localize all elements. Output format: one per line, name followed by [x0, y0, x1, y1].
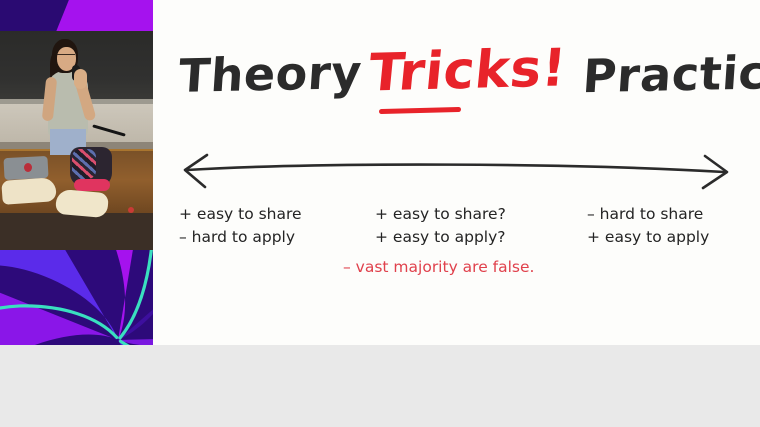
decorative-top-band [0, 0, 153, 31]
slide-screenshot: Theory Tricks! Practice + easy to share … [0, 0, 760, 427]
lecture-photo [0, 31, 153, 250]
column-practice: – hard to share + easy to apply [587, 203, 709, 249]
tricks-underline [379, 107, 461, 114]
practice-line-1: – hard to share [587, 203, 709, 226]
red-object [128, 207, 134, 213]
speaker-camera-feed[interactable] [0, 0, 153, 345]
glasses-icon [57, 54, 75, 59]
backpack-pattern [72, 149, 96, 179]
heading-practice: Practice [581, 45, 760, 103]
laptop-sticker [24, 163, 32, 172]
tricks-line-1: + easy to share? [375, 203, 506, 226]
footer-logo-bar: M A T R I X × IMAGINARY / 2022 ihp Insti… [0, 345, 760, 427]
tricks-caveat-note: – vast majority are false. [343, 258, 534, 276]
arrow-graphic [171, 145, 741, 193]
double-headed-arrow [171, 145, 741, 193]
column-tricks: + easy to share? + easy to apply? [375, 203, 506, 249]
theory-line-1: + easy to share [179, 203, 302, 226]
floor [0, 213, 153, 250]
purple-wedge [54, 0, 153, 31]
column-theory: + easy to share – hard to apply [179, 203, 302, 249]
tricks-line-2: + easy to apply? [375, 226, 506, 249]
heading-tricks: Tricks! [366, 38, 569, 103]
cloth-right [55, 189, 109, 218]
speaker-hand [74, 69, 87, 89]
heading-theory: Theory [177, 45, 363, 103]
swirl-graphic [0, 250, 153, 345]
slide-content: Theory Tricks! Practice + easy to share … [153, 0, 760, 345]
theory-line-2: – hard to apply [179, 226, 302, 249]
backpack-base [74, 179, 110, 191]
practice-line-2: + easy to apply [587, 226, 709, 249]
decorative-swirl [0, 250, 153, 345]
cloth-left [1, 177, 57, 205]
